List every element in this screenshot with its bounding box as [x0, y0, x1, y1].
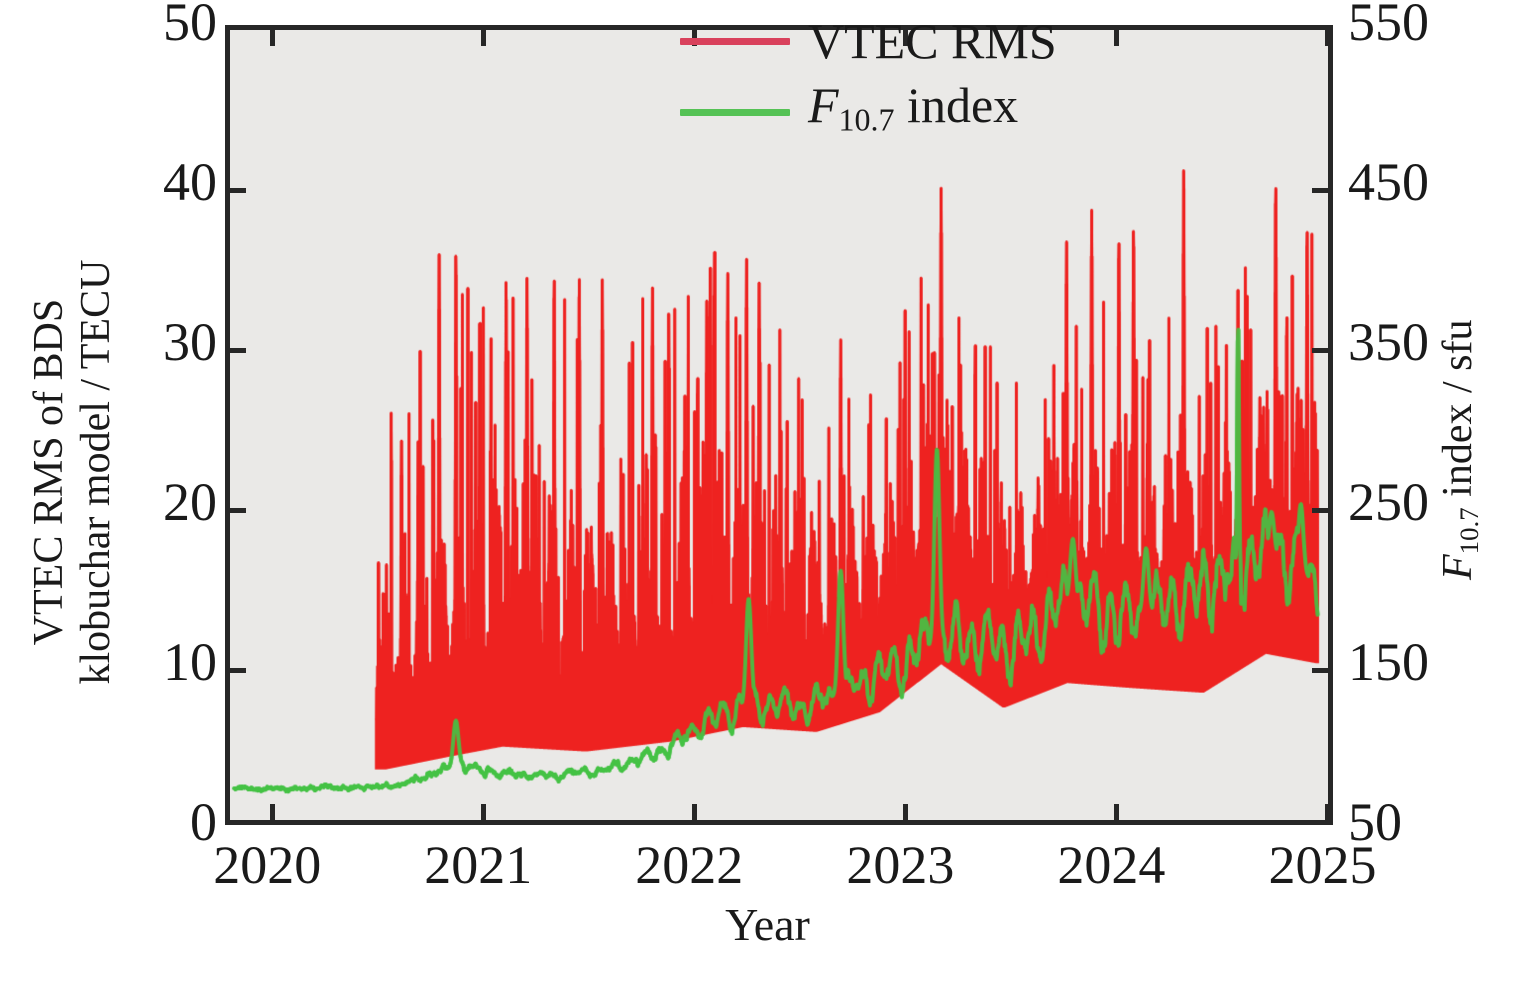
y-tick-left-10 — [230, 668, 246, 673]
y-tick-label-right-250: 250 — [1348, 475, 1429, 529]
y-tick-label-right-350: 350 — [1348, 315, 1429, 369]
x-tick-label-2021: 2021 — [424, 838, 532, 892]
legend-item-f107-index: F10.7 index — [680, 76, 1057, 148]
x-tick-label-2023: 2023 — [846, 838, 954, 892]
legend-item-vtec-rms: VTEC RMS — [680, 12, 1057, 70]
x-tick-bottom-2022 — [692, 804, 697, 820]
y-tick-right-250 — [1312, 508, 1328, 513]
y-tick-label-left-40: 40 — [163, 155, 217, 209]
x-tick-label-2025: 2025 — [1268, 838, 1376, 892]
y-tick-label-right-550: 550 — [1348, 0, 1429, 49]
y-axis-title-right-subscript: 10.7 — [1454, 507, 1484, 554]
y-tick-left-20 — [230, 508, 246, 513]
y-tick-label-left-10: 10 — [163, 635, 217, 689]
y-tick-label-right-450: 450 — [1348, 155, 1429, 209]
x-tick-bottom-2023 — [903, 804, 908, 820]
legend-label-vtec-rms: VTEC RMS — [808, 12, 1057, 70]
y-tick-left-30 — [230, 348, 246, 353]
y-tick-right-450 — [1312, 188, 1328, 193]
plot-canvas — [230, 30, 1328, 820]
legend-label-f107-symbol: F — [808, 77, 839, 133]
y-tick-right-150 — [1312, 668, 1328, 673]
x-tick-bottom-2024 — [1114, 804, 1119, 820]
y-axis-title-left-line1: VTEC RMS of BDS — [26, 299, 72, 646]
y-tick-label-left-50: 50 — [163, 0, 217, 49]
x-axis-title: Year — [0, 898, 1535, 951]
y-axis-title-right-suffix: index / sfu — [1435, 320, 1481, 508]
legend-swatch-f107-index — [680, 109, 790, 116]
y-axis-title-left-line2: klobuchar model / TECU — [73, 260, 119, 685]
y-axis-title-right: F10.7 index / sfu — [1435, 150, 1485, 750]
y-tick-left-40 — [230, 188, 246, 193]
y-tick-label-left-20: 20 — [163, 475, 217, 529]
y-tick-right-350 — [1312, 348, 1328, 353]
legend-swatch-vtec-rms — [680, 38, 790, 45]
y-axis-title-right-symbol: F — [1435, 554, 1481, 580]
x-tick-top-2020 — [270, 30, 275, 46]
x-tick-label-2024: 2024 — [1057, 838, 1165, 892]
x-tick-top-2024 — [1114, 30, 1119, 46]
x-tick-label-2020: 2020 — [213, 838, 321, 892]
y-axis-title-left: VTEC RMS of BDS klobuchar model / TECU — [26, 92, 120, 852]
chart-figure: VTEC RMS of BDS klobuchar model / TECU F… — [0, 0, 1535, 981]
x-tick-bottom-2021 — [481, 804, 486, 820]
legend-label-f107-index: F10.7 index — [808, 76, 1018, 148]
legend-label-f107-subscript: 10.7 — [839, 101, 895, 137]
legend: VTEC RMS F10.7 index — [680, 12, 1057, 148]
y-tick-label-left-30: 30 — [163, 315, 217, 369]
x-tick-top-2025 — [1325, 30, 1330, 46]
x-tick-label-2022: 2022 — [635, 838, 743, 892]
x-tick-bottom-2020 — [270, 804, 275, 820]
x-tick-top-2021 — [481, 30, 486, 46]
legend-label-f107-tail: index — [895, 77, 1019, 133]
x-tick-bottom-2025 — [1325, 804, 1330, 820]
y-tick-label-right-150: 150 — [1348, 635, 1429, 689]
